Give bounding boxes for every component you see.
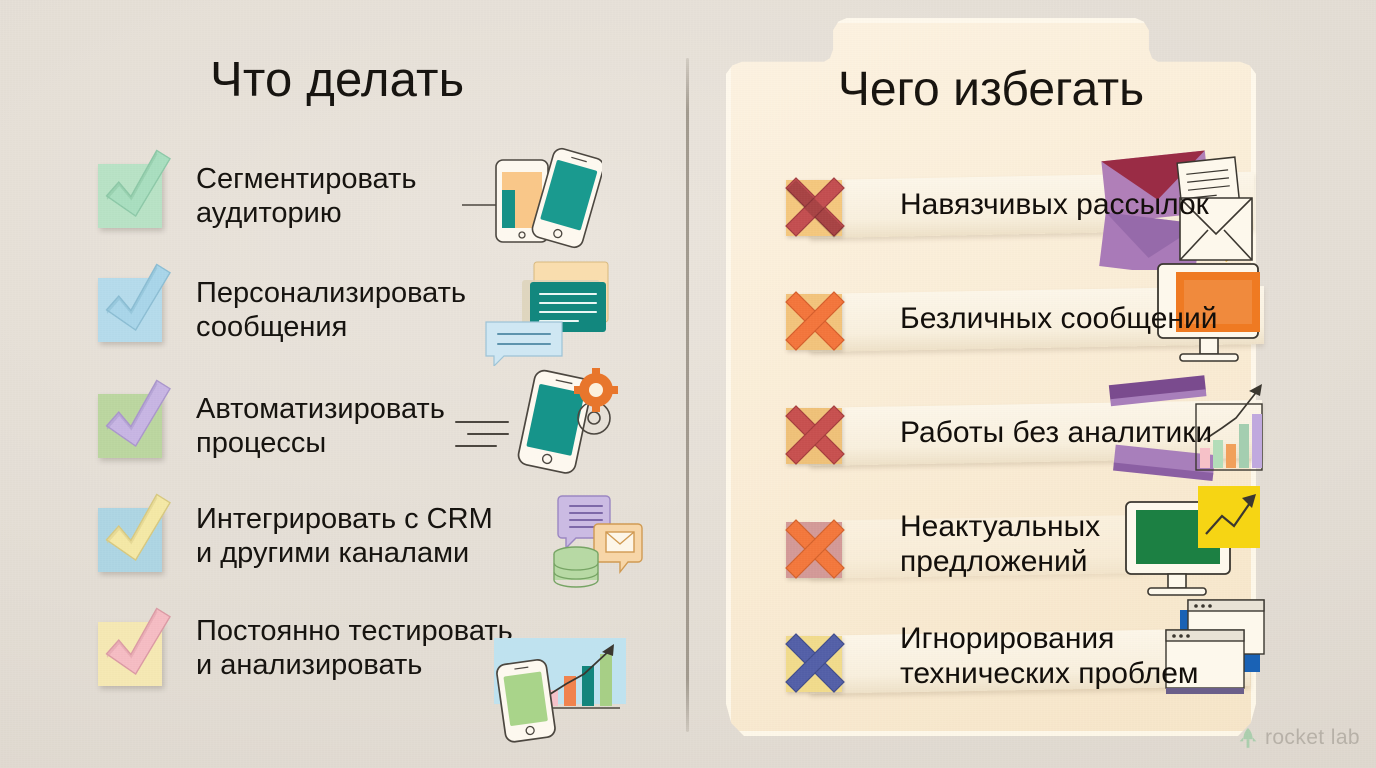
check-icon [92,606,176,690]
cross-mark-glyph [774,622,856,704]
do-column: Что делать Сегментировать аудиторию [0,0,686,768]
watermark: rocket lab [1238,726,1360,750]
monitor-green-chart-icon [1120,478,1264,606]
do-item-label: Автоматизировать процессы [196,392,445,460]
phone-chart-icon [484,632,632,744]
message-cards-icon [482,258,622,366]
avoid-item-label: Безличных сообщений [900,302,1218,337]
cross-mark-glyph [774,394,856,476]
check-mark-glyph [92,148,176,232]
watermark-label: rocket lab [1265,726,1360,750]
avoid-column-title: Чего избегать [726,62,1256,117]
check-icon [92,378,176,462]
do-item-label: Интегрировать с CRM и другими каналами [196,502,493,570]
do-item-label: Постоянно тестировать и анализировать [196,614,513,682]
cross-icon [774,508,856,590]
do-item-label: Сегментировать аудиторию [196,162,416,230]
check-icon [92,262,176,346]
check-mark-glyph [92,606,176,690]
check-icon [92,492,176,576]
avoid-item-label: Работы без аналитики [900,416,1212,451]
column-divider [686,58,689,732]
cross-icon [774,622,856,704]
smartphones-icon [492,146,602,252]
avoid-item-label: Навязчивых рассылок [900,188,1209,223]
slide-canvas: Что делать Сегментировать аудиторию [0,0,1376,768]
do-column-title: Что делать [210,52,464,108]
avoid-item-label: Неактуальных предложений [900,510,1100,580]
avoid-item-label: Игнорирования технических проблем [900,622,1199,692]
check-icon [92,148,176,232]
check-mark-glyph [92,262,176,346]
rocket-icon [1238,727,1258,749]
database-chat-mail-icon [540,480,644,590]
do-item-label: Персонализировать сообщения [196,276,466,344]
cross-mark-glyph [774,166,856,248]
cross-mark-glyph [774,280,856,362]
cross-icon [774,166,856,248]
cross-icon [774,280,856,362]
check-mark-glyph [92,492,176,576]
avoid-column: Чего избегать [726,18,1256,736]
phone-gears-icon [452,366,622,476]
cross-icon [774,394,856,476]
cross-mark-glyph [774,508,856,590]
check-mark-glyph [92,378,176,462]
